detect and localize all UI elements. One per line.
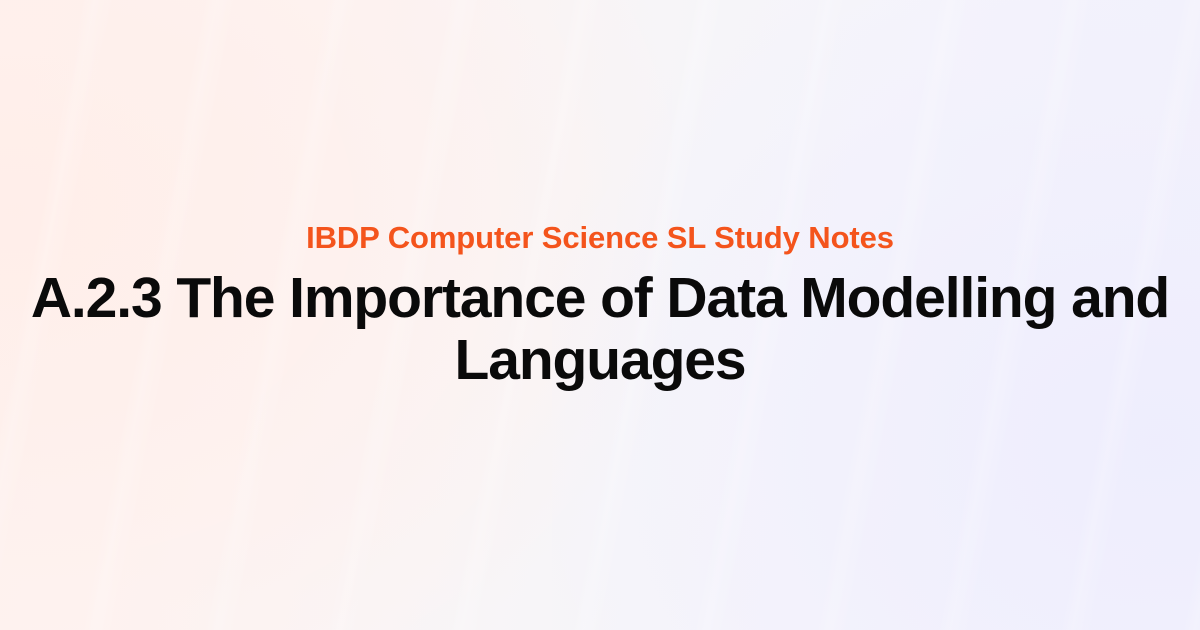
banner-content: IBDP Computer Science SL Study Notes A.2… — [0, 0, 1200, 630]
title-card-banner: IBDP Computer Science SL Study Notes A.2… — [0, 0, 1200, 630]
course-label: IBDP Computer Science SL Study Notes — [306, 220, 894, 257]
page-title: A.2.3 The Importance of Data Modelling a… — [26, 267, 1174, 392]
